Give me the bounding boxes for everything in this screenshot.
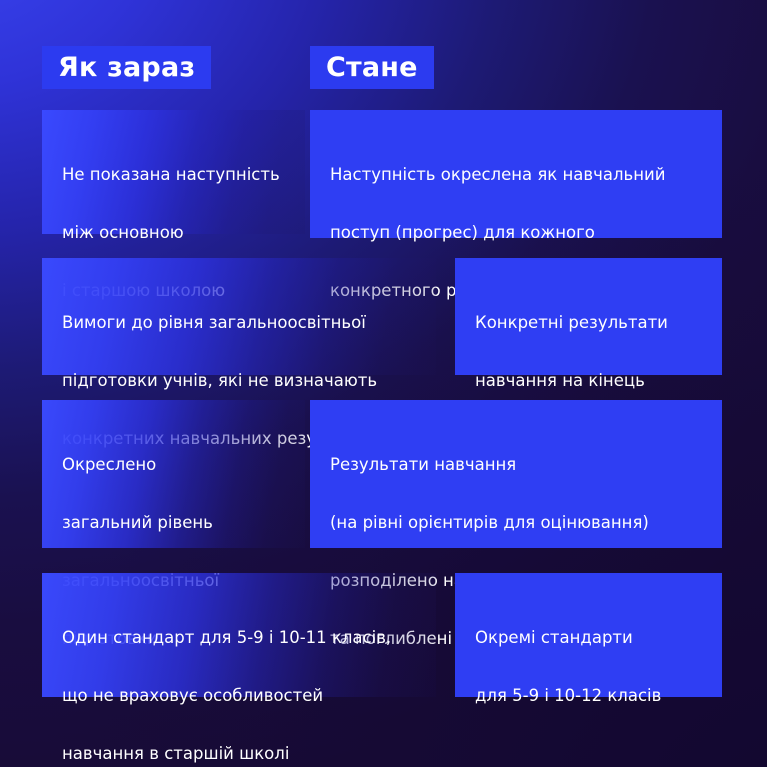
card-line: Результати навчання (330, 450, 702, 479)
comparison-card-current-3: Окреслено загальний рівень загальноосвіт… (42, 400, 305, 548)
card-line: навчання в старшій школі (62, 739, 416, 767)
card-line: Окремі стандарти (475, 623, 702, 652)
card-line: між основною (62, 218, 285, 247)
comparison-card-future-4: Окремі стандарти для 5-9 і 10-12 класів (455, 573, 722, 697)
comparison-card-current-4: Один стандарт для 5-9 і 10-11 класів, що… (42, 573, 436, 697)
card-line: Конкретні результати (475, 308, 702, 337)
comparison-card-future-1: Наступність окреслена як навчальний пост… (310, 110, 722, 238)
card-line: для 5-9 і 10-12 класів (475, 681, 702, 710)
card-line: Один стандарт для 5-9 і 10-11 класів, (62, 623, 416, 652)
card-line: що не враховує особливостей (62, 681, 416, 710)
card-line: (на рівні орієнтирів для оцінювання) (330, 508, 702, 537)
comparison-card-future-2: Конкретні результати навчання на кінець … (455, 258, 722, 375)
card-line: Вимоги до рівня загальноосвітньої (62, 308, 416, 337)
card-line: Окреслено (62, 450, 285, 479)
comparison-infographic: Як зараз Стане Не показана наступність м… (0, 0, 767, 767)
card-line: Не показана наступність (62, 160, 285, 189)
column-header-current: Як зараз (42, 46, 211, 89)
comparison-card-current-1: Не показана наступність між основною і с… (42, 110, 305, 234)
comparison-card-current-2: Вимоги до рівня загальноосвітньої підгот… (42, 258, 436, 375)
card-line: поступ (прогрес) для кожного (330, 218, 702, 247)
column-header-future: Стане (310, 46, 434, 89)
comparison-card-future-3: Результати навчання (на рівні орієнтирів… (310, 400, 722, 548)
card-line: Наступність окреслена як навчальний (330, 160, 702, 189)
card-line: загальний рівень (62, 508, 285, 537)
card-line: навчання на кінець (475, 366, 702, 395)
card-line: підготовки учнів, які не визначають (62, 366, 416, 395)
